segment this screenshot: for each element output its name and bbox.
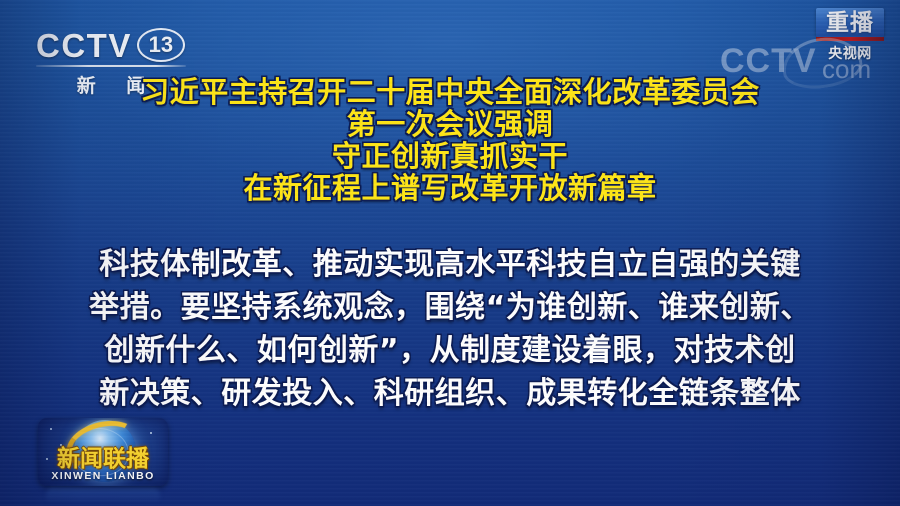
cctv-logo-row: CCTV 13 <box>36 28 192 62</box>
program-title-pinyin: XINWEN LIANBO <box>38 471 168 482</box>
headline-line: 第一次会议强调 <box>0 108 900 140</box>
body-text-line: 科技体制改革、推动实现高水平科技自立自强的关键 <box>0 243 900 286</box>
logo-reflection <box>46 488 160 504</box>
star-icon <box>150 432 152 434</box>
body-text-line: 举措。要坚持系统观念，围绕“为谁创新、谁来创新、 <box>0 286 900 329</box>
headline-line: 守正创新真抓实干 <box>0 140 900 172</box>
body-text-line: 创新什么、如何创新”，从制度建设着眼，对技术创 <box>0 329 900 372</box>
cctv-wordmark: CCTV <box>36 29 132 62</box>
headline-block: 习近平主持召开二十届中央全面深化改革委员会 第一次会议强调 守正创新真抓实干 在… <box>0 76 900 204</box>
watermark-cctv-text: CCTV <box>720 44 817 78</box>
replay-badge: 重播 央视网 <box>816 8 884 63</box>
replay-label: 重播 <box>818 11 882 35</box>
body-text-block: 科技体制改革、推动实现高水平科技自立自强的关键 举措。要坚持系统观念，围绕“为谁… <box>0 243 900 415</box>
headline-line: 在新征程上谱写改革开放新篇章 <box>0 172 900 204</box>
xinwen-lianbo-logo: 新闻联播 XINWEN LIANBO <box>38 418 168 486</box>
replay-badge-box: 重播 <box>816 8 884 37</box>
network-label: 央视网 <box>816 43 884 63</box>
body-text-line: 新决策、研发投入、科研组织、成果转化全链条整体 <box>0 372 900 415</box>
cctv-logo-underline <box>36 65 186 67</box>
broadcast-screen: CCTV 13 新 闻 重播 央视网 CCTV com 习近平主持召开二十届中央… <box>0 0 900 506</box>
channel-number-badge: 13 <box>137 28 185 62</box>
star-icon <box>50 428 52 430</box>
replay-badge-red-stripe <box>816 37 884 41</box>
headline-line: 习近平主持召开二十届中央全面深化改革委员会 <box>0 76 900 108</box>
program-title-chinese: 新闻联播 <box>38 448 168 471</box>
